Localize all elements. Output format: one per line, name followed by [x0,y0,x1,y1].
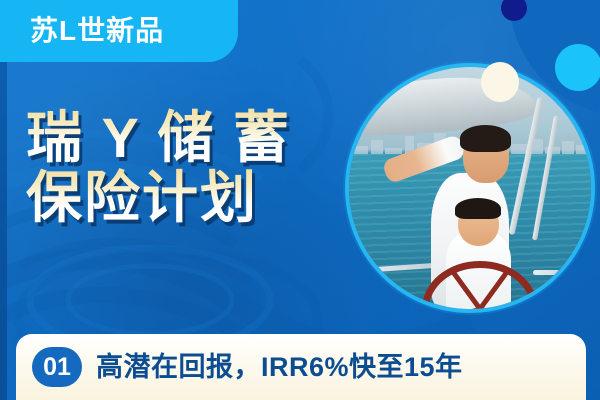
decor-cyan-circle-icon [555,44,600,91]
headline-line-1: 瑞 Y 储 蓄 [26,108,291,168]
feature-callout-bar: 01 高潜在回报，IRR6%快至15年 [16,334,586,400]
man-hair [460,125,511,152]
page-title: 瑞 Y 储 蓄 保险计划 [26,108,291,229]
promo-poster: 苏L世新品 瑞 Y 储 蓄 保险计划 01 高潜在回报，IRR6%快至15年 [0,0,600,400]
new-product-badge: 苏L世新品 [0,0,238,62]
decor-cream-circle-icon [481,62,519,102]
boy-hair [455,198,501,220]
hero-photo [345,63,595,313]
headline-line-2: 保险计划 [26,168,291,228]
new-product-badge-label: 苏L世新品 [30,17,164,45]
hero-photo-scene [349,67,591,309]
boat-rail [533,270,586,275]
callout-text: 高潜在回报，IRR6%快至15年 [96,354,463,381]
boat-rail [364,265,369,309]
callout-number-label: 01 [43,355,71,380]
callout-number-badge: 01 [32,347,82,387]
